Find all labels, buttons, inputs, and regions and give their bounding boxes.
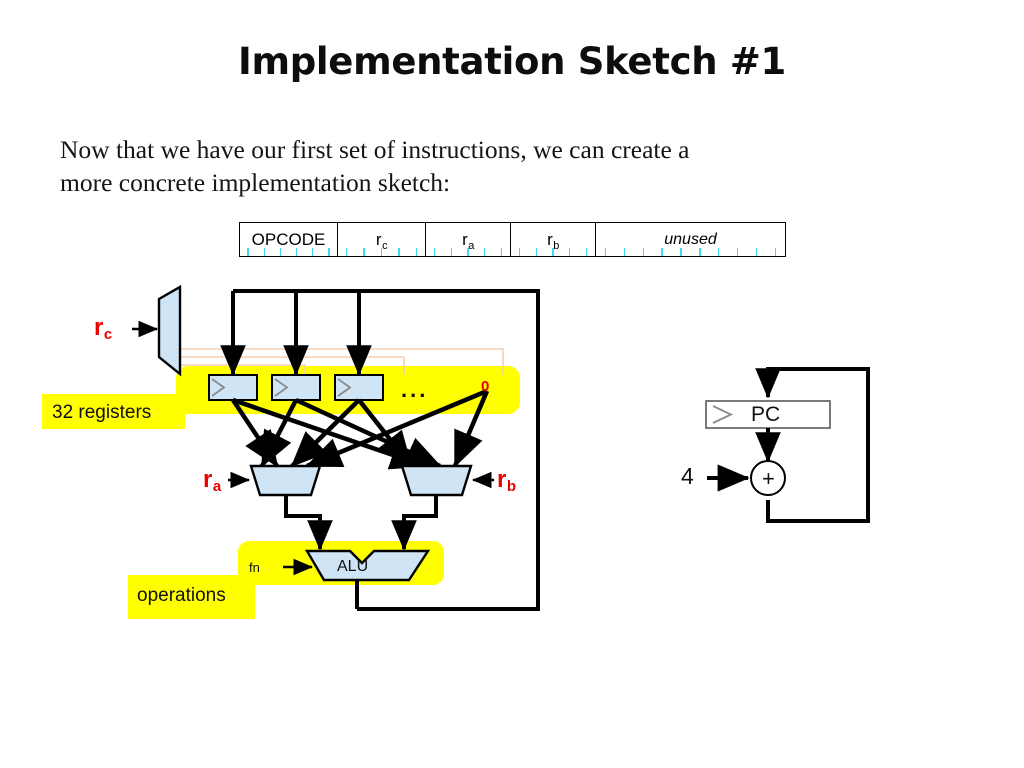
register-box-2 — [335, 375, 383, 400]
instr-field-ra-label: ra — [462, 231, 474, 248]
zero-source-label: 0 — [481, 379, 489, 394]
instr-field-opcode-label: OPCODE — [252, 231, 326, 248]
alu-label: ALU — [337, 559, 368, 575]
label-operations: operations — [137, 586, 226, 605]
instr-field-unused-label: unused — [664, 232, 717, 248]
label-32-registers: 32 registers — [52, 403, 151, 422]
register-decoder-block — [159, 287, 180, 374]
pc-increment-label: 4 — [681, 465, 694, 488]
register-box-1 — [272, 375, 320, 400]
decoder-input-label-rc: rc — [94, 316, 112, 340]
mux-to-alu-wires — [286, 495, 436, 549]
pc-feedback-wire — [768, 369, 868, 521]
pc-label: PC — [751, 404, 780, 425]
pc-adder-label: + — [762, 468, 775, 490]
register-write-drops — [233, 291, 359, 374]
instr-field-rc-label: rc — [376, 231, 387, 248]
datapath-diagram — [0, 0, 1024, 768]
slide-canvas: Implementation Sketch #1 Now that we hav… — [0, 0, 1024, 768]
mux-rb-label: rb — [497, 468, 516, 492]
register-file — [209, 375, 383, 400]
alu-fn-label: fn — [249, 561, 260, 574]
mux-ra-block — [251, 466, 320, 495]
instr-field-rb-label: rb — [547, 231, 559, 248]
register-ellipsis: ... — [401, 379, 428, 401]
instr-field-unused-ticks — [596, 247, 785, 256]
mux-ra-label: ra — [203, 468, 221, 492]
mux-rb-block — [402, 466, 471, 495]
pc-unit-group — [706, 369, 868, 521]
register-box-0 — [209, 375, 257, 400]
